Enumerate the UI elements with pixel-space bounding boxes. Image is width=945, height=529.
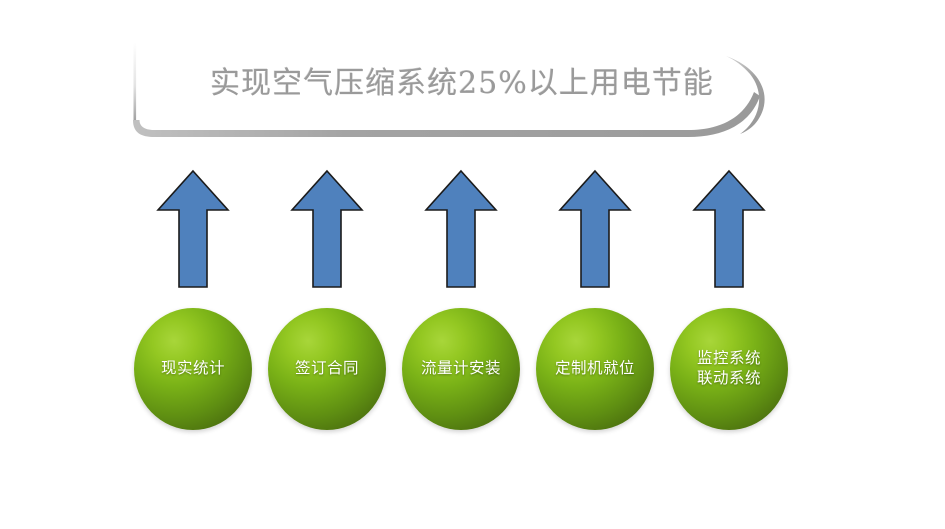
flow-step-4[interactable]: 定制机就位 — [536, 168, 654, 430]
step-label-5: 监控系统 联动系统 — [693, 349, 765, 389]
process-flow: 现实统计 签订合同 流量计安装 — [134, 168, 794, 430]
step-bubble-3[interactable]: 流量计安装 — [402, 308, 520, 430]
step-label-1: 现实统计 — [157, 359, 229, 379]
up-arrow-icon-2 — [289, 168, 365, 290]
flow-step-2[interactable]: 签订合同 — [268, 168, 386, 430]
flow-step-3[interactable]: 流量计安装 — [402, 168, 520, 430]
banner-left-stem — [134, 42, 137, 120]
step-label-2: 签订合同 — [291, 359, 363, 379]
up-arrow-icon-1 — [155, 168, 231, 290]
step-label-4: 定制机就位 — [551, 359, 639, 379]
flow-step-5[interactable]: 监控系统 联动系统 — [670, 168, 788, 430]
step-bubble-4[interactable]: 定制机就位 — [536, 308, 654, 430]
title-banner: 实现空气压缩系统25%以上用电节能 — [128, 34, 788, 142]
step-bubble-2[interactable]: 签订合同 — [268, 308, 386, 430]
slide-canvas: 实现空气压缩系统25%以上用电节能 现实统计 签订合同 — [0, 0, 945, 529]
step-bubble-5[interactable]: 监控系统 联动系统 — [670, 308, 788, 430]
page-title: 实现空气压缩系统25%以上用电节能 — [152, 58, 772, 102]
up-arrow-icon-3 — [423, 168, 499, 290]
up-arrow-icon-4 — [557, 168, 633, 290]
up-arrow-icon-5 — [691, 168, 767, 290]
step-bubble-1[interactable]: 现实统计 — [134, 308, 252, 430]
step-label-3: 流量计安装 — [417, 359, 505, 379]
flow-step-1[interactable]: 现实统计 — [134, 168, 252, 430]
